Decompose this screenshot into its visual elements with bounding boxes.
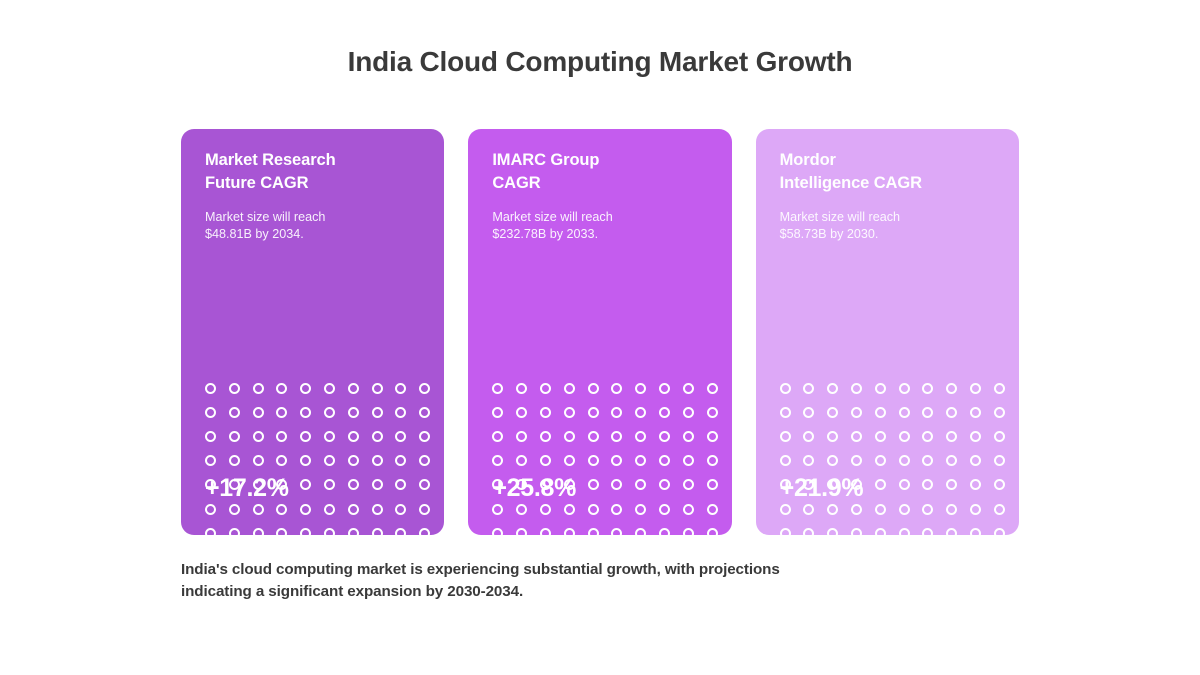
card-subtitle: Market size will reach $58.73B by 2030.	[780, 209, 997, 245]
waffle-dot-empty	[659, 407, 670, 418]
waffle-dot-empty	[922, 455, 933, 466]
waffle-dot-empty	[803, 504, 814, 515]
waffle-dot-empty	[229, 407, 240, 418]
waffle-dot-empty	[372, 407, 383, 418]
waffle-dot-empty	[372, 528, 383, 535]
waffle-dot-empty	[635, 504, 646, 515]
waffle-dot-empty	[300, 431, 311, 442]
waffle-dot-empty	[348, 431, 359, 442]
waffle-dot-empty	[419, 431, 430, 442]
waffle-dot-empty	[851, 528, 862, 535]
waffle-dot-empty	[611, 479, 622, 490]
card-subtitle: Market size will reach $232.78B by 2033.	[492, 209, 709, 245]
waffle-dot-empty	[780, 528, 791, 535]
card-title: Mordor Intelligence CAGR	[780, 149, 997, 195]
waffle-dot-empty	[372, 383, 383, 394]
waffle-dot-empty	[683, 431, 694, 442]
waffle-dot-empty	[205, 528, 216, 535]
waffle-dot-empty	[588, 407, 599, 418]
waffle-dot-empty	[276, 455, 287, 466]
waffle-dot-empty	[564, 383, 575, 394]
waffle-dot-empty	[899, 504, 910, 515]
waffle-dot-empty	[253, 504, 264, 515]
waffle-dot-empty	[946, 528, 957, 535]
waffle-dot-empty	[492, 383, 503, 394]
waffle-dot-empty	[372, 504, 383, 515]
waffle-dot-empty	[419, 528, 430, 535]
waffle-dot-empty	[348, 407, 359, 418]
waffle-dot-empty	[780, 455, 791, 466]
waffle-dot-empty	[588, 479, 599, 490]
waffle-dot-empty	[395, 528, 406, 535]
waffle-dot-empty	[300, 455, 311, 466]
waffle-dot-empty	[611, 383, 622, 394]
waffle-dot-empty	[946, 431, 957, 442]
waffle-dot-empty	[348, 504, 359, 515]
waffle-dot-empty	[875, 407, 886, 418]
waffle-dot-empty	[851, 407, 862, 418]
waffle-dot-empty	[540, 383, 551, 394]
waffle-dot-empty	[516, 528, 527, 535]
waffle-dot-empty	[899, 479, 910, 490]
waffle-dot-empty	[827, 455, 838, 466]
waffle-dot-empty	[276, 407, 287, 418]
waffle-dot-grid	[492, 376, 730, 535]
waffle-dot-empty	[300, 407, 311, 418]
waffle-dot-empty	[611, 504, 622, 515]
waffle-dot-empty	[300, 383, 311, 394]
waffle-dot-empty	[395, 407, 406, 418]
waffle-dot-empty	[419, 504, 430, 515]
waffle-dot-empty	[492, 528, 503, 535]
waffle-dot-empty	[875, 528, 886, 535]
waffle-dot-empty	[635, 455, 646, 466]
waffle-dot-empty	[635, 407, 646, 418]
waffle-dot-empty	[395, 431, 406, 442]
waffle-dot-empty	[922, 504, 933, 515]
waffle-dot-empty	[419, 455, 430, 466]
waffle-dot-empty	[899, 431, 910, 442]
waffle-dot-empty	[635, 383, 646, 394]
waffle-dot-empty	[922, 383, 933, 394]
waffle-dot-empty	[970, 383, 981, 394]
waffle-dot-empty	[611, 407, 622, 418]
waffle-dot-empty	[516, 407, 527, 418]
waffle-dot-empty	[324, 407, 335, 418]
waffle-dot-grid	[780, 376, 1018, 535]
waffle-dot-empty	[324, 383, 335, 394]
waffle-dot-empty	[827, 528, 838, 535]
footer-summary-note: India's cloud computing market is experi…	[181, 559, 941, 603]
cagr-card: Market Research Future CAGRMarket size w…	[181, 129, 444, 535]
waffle-dot-empty	[611, 528, 622, 535]
waffle-dot-empty	[588, 431, 599, 442]
waffle-dot-empty	[659, 455, 670, 466]
waffle-dot-empty	[229, 528, 240, 535]
waffle-dot-empty	[276, 383, 287, 394]
waffle-dot-empty	[205, 431, 216, 442]
waffle-dot-empty	[707, 479, 718, 490]
waffle-dot-empty	[899, 407, 910, 418]
waffle-dot-empty	[229, 431, 240, 442]
waffle-dot-empty	[803, 528, 814, 535]
waffle-dot-empty	[780, 504, 791, 515]
waffle-dot-empty	[659, 479, 670, 490]
waffle-dot-empty	[851, 504, 862, 515]
waffle-dot-empty	[922, 528, 933, 535]
waffle-dot-empty	[372, 431, 383, 442]
waffle-dot-empty	[635, 528, 646, 535]
waffle-dot-empty	[970, 504, 981, 515]
card-title: Market Research Future CAGR	[205, 149, 422, 195]
waffle-dot-empty	[588, 528, 599, 535]
waffle-dot-empty	[540, 528, 551, 535]
waffle-dot-empty	[516, 383, 527, 394]
waffle-dot-empty	[946, 383, 957, 394]
waffle-dot-empty	[300, 528, 311, 535]
waffle-dot-empty	[492, 504, 503, 515]
waffle-dot-empty	[994, 504, 1005, 515]
waffle-dot-empty	[946, 407, 957, 418]
waffle-dot-empty	[659, 431, 670, 442]
waffle-dot-empty	[492, 431, 503, 442]
waffle-dot-empty	[395, 383, 406, 394]
waffle-dot-empty	[851, 455, 862, 466]
waffle-dot-empty	[922, 407, 933, 418]
waffle-dot-empty	[395, 455, 406, 466]
waffle-dot-empty	[564, 504, 575, 515]
waffle-dot-empty	[492, 407, 503, 418]
waffle-dot-empty	[492, 455, 503, 466]
waffle-dot-empty	[994, 383, 1005, 394]
infographic-canvas: India Cloud Computing Market Growth Mark…	[0, 0, 1200, 675]
waffle-dot-empty	[588, 455, 599, 466]
waffle-dot-empty	[970, 431, 981, 442]
waffle-dot-empty	[803, 431, 814, 442]
waffle-dot-empty	[229, 504, 240, 515]
waffle-dot-empty	[875, 479, 886, 490]
waffle-dot-empty	[611, 431, 622, 442]
waffle-dot-empty	[540, 504, 551, 515]
page-title: India Cloud Computing Market Growth	[0, 46, 1200, 78]
waffle-dot-empty	[324, 504, 335, 515]
card-title: IMARC Group CAGR	[492, 149, 709, 195]
waffle-dot-empty	[946, 455, 957, 466]
waffle-dot-empty	[970, 407, 981, 418]
waffle-dot-empty	[588, 504, 599, 515]
waffle-dot-empty	[994, 479, 1005, 490]
waffle-dot-empty	[780, 383, 791, 394]
waffle-dot-empty	[253, 407, 264, 418]
waffle-dot-empty	[922, 431, 933, 442]
waffle-dot-empty	[875, 504, 886, 515]
waffle-dot-empty	[324, 455, 335, 466]
waffle-dot-empty	[851, 383, 862, 394]
waffle-dot-empty	[659, 504, 670, 515]
waffle-dot-empty	[276, 528, 287, 535]
waffle-dot-empty	[994, 528, 1005, 535]
waffle-dot-empty	[899, 383, 910, 394]
waffle-dot-empty	[683, 455, 694, 466]
waffle-dot-empty	[707, 455, 718, 466]
waffle-dot-empty	[348, 528, 359, 535]
waffle-dot-empty	[300, 504, 311, 515]
waffle-dot-empty	[899, 528, 910, 535]
waffle-dot-empty	[564, 407, 575, 418]
waffle-dot-empty	[205, 504, 216, 515]
waffle-dot-empty	[276, 431, 287, 442]
waffle-dot-empty	[875, 431, 886, 442]
waffle-dot-empty	[372, 479, 383, 490]
waffle-dot-empty	[827, 407, 838, 418]
waffle-dot-empty	[827, 383, 838, 394]
waffle-dot-empty	[707, 383, 718, 394]
waffle-dot-empty	[707, 504, 718, 515]
waffle-dot-empty	[516, 431, 527, 442]
waffle-dot-empty	[540, 455, 551, 466]
cagr-card: Mordor Intelligence CAGRMarket size will…	[756, 129, 1019, 535]
waffle-dot-empty	[875, 383, 886, 394]
waffle-dot-grid	[205, 376, 443, 535]
waffle-dot-empty	[372, 455, 383, 466]
waffle-dot-empty	[683, 528, 694, 535]
waffle-dot-empty	[516, 504, 527, 515]
waffle-dot-empty	[253, 383, 264, 394]
waffle-dot-empty	[707, 528, 718, 535]
waffle-dot-empty	[707, 407, 718, 418]
waffle-dot-empty	[780, 407, 791, 418]
waffle-dot-empty	[540, 407, 551, 418]
waffle-dot-empty	[683, 407, 694, 418]
waffle-dot-empty	[276, 504, 287, 515]
waffle-dot-empty	[922, 479, 933, 490]
waffle-dot-empty	[780, 431, 791, 442]
waffle-dot-empty	[611, 455, 622, 466]
waffle-dot-empty	[827, 504, 838, 515]
waffle-dot-empty	[205, 407, 216, 418]
waffle-dot-empty	[803, 383, 814, 394]
waffle-dot-empty	[419, 407, 430, 418]
waffle-dot-empty	[419, 479, 430, 490]
card-subtitle: Market size will reach $48.81B by 2034.	[205, 209, 422, 245]
waffle-dot-empty	[516, 455, 527, 466]
waffle-dot-empty	[253, 455, 264, 466]
waffle-dot-empty	[659, 383, 670, 394]
waffle-dot-empty	[803, 407, 814, 418]
waffle-dot-empty	[395, 504, 406, 515]
cagr-card-row: Market Research Future CAGRMarket size w…	[181, 129, 1019, 535]
waffle-dot-empty	[994, 431, 1005, 442]
waffle-dot-empty	[899, 455, 910, 466]
waffle-dot-empty	[803, 455, 814, 466]
cagr-percent-value: +25.8%	[492, 474, 576, 503]
waffle-dot-empty	[707, 431, 718, 442]
cagr-percent-value: +17.2%	[205, 474, 289, 503]
waffle-dot-empty	[324, 479, 335, 490]
waffle-dot-empty	[253, 431, 264, 442]
waffle-dot-empty	[827, 431, 838, 442]
waffle-dot-empty	[683, 504, 694, 515]
cagr-percent-value: +21.9%	[780, 474, 864, 503]
waffle-dot-empty	[970, 455, 981, 466]
waffle-dot-empty	[635, 431, 646, 442]
waffle-dot-empty	[324, 431, 335, 442]
waffle-dot-empty	[659, 528, 670, 535]
waffle-dot-empty	[970, 528, 981, 535]
waffle-dot-empty	[348, 383, 359, 394]
waffle-dot-empty	[994, 455, 1005, 466]
waffle-dot-empty	[970, 479, 981, 490]
waffle-dot-empty	[348, 455, 359, 466]
waffle-dot-empty	[564, 455, 575, 466]
waffle-dot-empty	[946, 504, 957, 515]
waffle-dot-empty	[229, 455, 240, 466]
waffle-dot-empty	[683, 383, 694, 394]
waffle-dot-empty	[564, 431, 575, 442]
waffle-dot-empty	[419, 383, 430, 394]
waffle-dot-empty	[324, 528, 335, 535]
waffle-dot-empty	[994, 407, 1005, 418]
waffle-dot-empty	[875, 455, 886, 466]
waffle-dot-empty	[540, 431, 551, 442]
waffle-dot-empty	[205, 455, 216, 466]
waffle-dot-empty	[946, 479, 957, 490]
waffle-dot-empty	[588, 383, 599, 394]
waffle-dot-empty	[683, 479, 694, 490]
waffle-dot-empty	[564, 528, 575, 535]
waffle-dot-empty	[253, 528, 264, 535]
cagr-card: IMARC Group CAGRMarket size will reach $…	[468, 129, 731, 535]
waffle-dot-empty	[229, 383, 240, 394]
waffle-dot-empty	[635, 479, 646, 490]
waffle-dot-empty	[851, 431, 862, 442]
waffle-dot-empty	[395, 479, 406, 490]
waffle-dot-empty	[205, 383, 216, 394]
waffle-dot-empty	[348, 479, 359, 490]
waffle-dot-empty	[300, 479, 311, 490]
